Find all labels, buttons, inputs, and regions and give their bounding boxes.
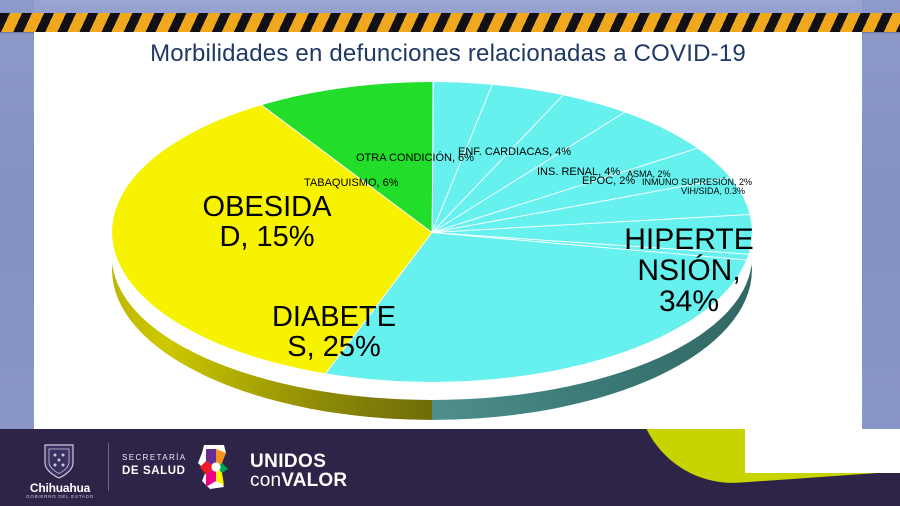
footer-divider bbox=[108, 443, 109, 491]
chihuahua-subtitle: GOBIERNO DEL ESTADO bbox=[22, 494, 98, 499]
slice-label-vih-sida: VIH/SIDA, 0.3% bbox=[681, 186, 745, 196]
secretaria-line1: SECRETARÍA bbox=[122, 453, 187, 462]
campaign-con: con bbox=[250, 470, 281, 491]
secretaria-line2: DE SALUD bbox=[122, 465, 186, 477]
slice-label-obesidad: OBESIDA D, 15% bbox=[182, 192, 352, 252]
chihuahua-wordmark: Chihuahua bbox=[26, 481, 94, 495]
hazard-stripe-band bbox=[0, 13, 900, 32]
slice-label-diabetes: DIABETE S, 25% bbox=[234, 302, 434, 362]
slice-label-hipertension: HIPERTE NSIÓN, 34% bbox=[594, 224, 784, 318]
slice-label-otra-condicion: OTRA CONDICIÓN, 6% bbox=[356, 152, 474, 164]
campaign-line2: conVALOR bbox=[250, 470, 347, 492]
chihuahua-shield-icon bbox=[44, 443, 74, 479]
footer-bar: Chihuahua GOBIERNO DEL ESTADO SECRETARÍA… bbox=[0, 429, 900, 506]
slice-label-tabaquismo: TABAQUISMO, 6% bbox=[304, 177, 399, 189]
slide-root: Morbilidades en defunciones relacionadas… bbox=[0, 0, 900, 506]
chihuahua-map-icon bbox=[190, 443, 242, 493]
content-card: Morbilidades en defunciones relacionadas… bbox=[34, 32, 862, 477]
campaign-valor: VALOR bbox=[281, 470, 347, 491]
pie-chart: HIPERTE NSIÓN, 34% DIABETE S, 25% OBESID… bbox=[34, 72, 862, 432]
slice-label-enf-cardiacas: ENF. CARDIACAS, 4% bbox=[458, 146, 571, 158]
footer-content: Chihuahua GOBIERNO DEL ESTADO SECRETARÍA… bbox=[0, 429, 900, 506]
chart-title: Morbilidades en defunciones relacionadas… bbox=[34, 40, 862, 68]
